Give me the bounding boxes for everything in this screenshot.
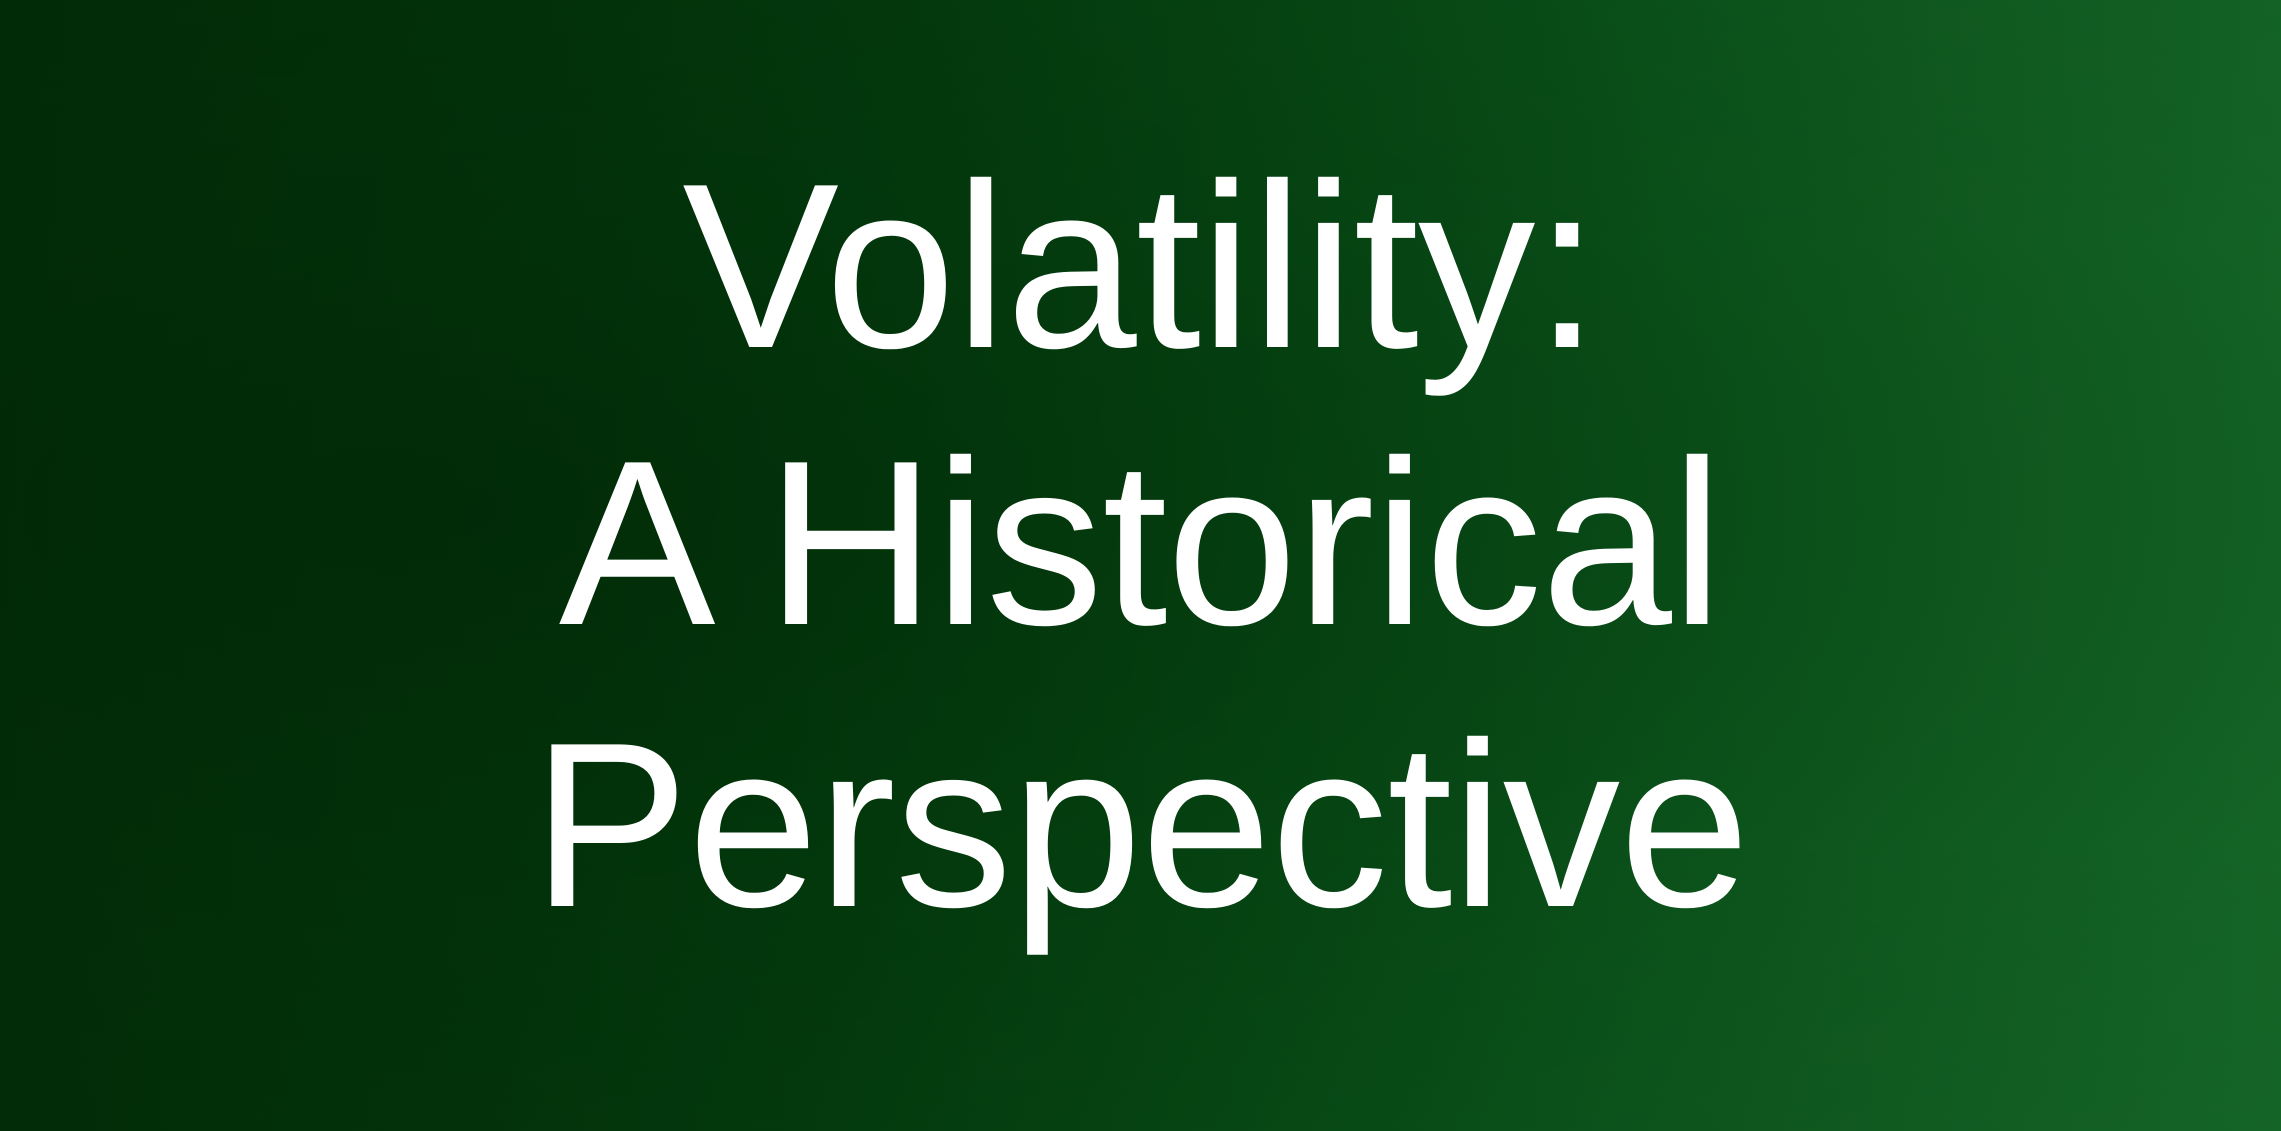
title-line-2: A Historical: [0, 471, 2281, 711]
title-line-1: Volatility:: [0, 194, 2281, 434]
title-line-3: Perspective: [0, 753, 2281, 993]
title-line-2-text: A Historical: [559, 425, 1722, 660]
title-card-banner: Volatility: A Historical Perspective: [0, 0, 2281, 1131]
title-line-1-text: Volatility:: [682, 148, 1598, 383]
title-line-3-text: Perspective: [532, 707, 1749, 942]
